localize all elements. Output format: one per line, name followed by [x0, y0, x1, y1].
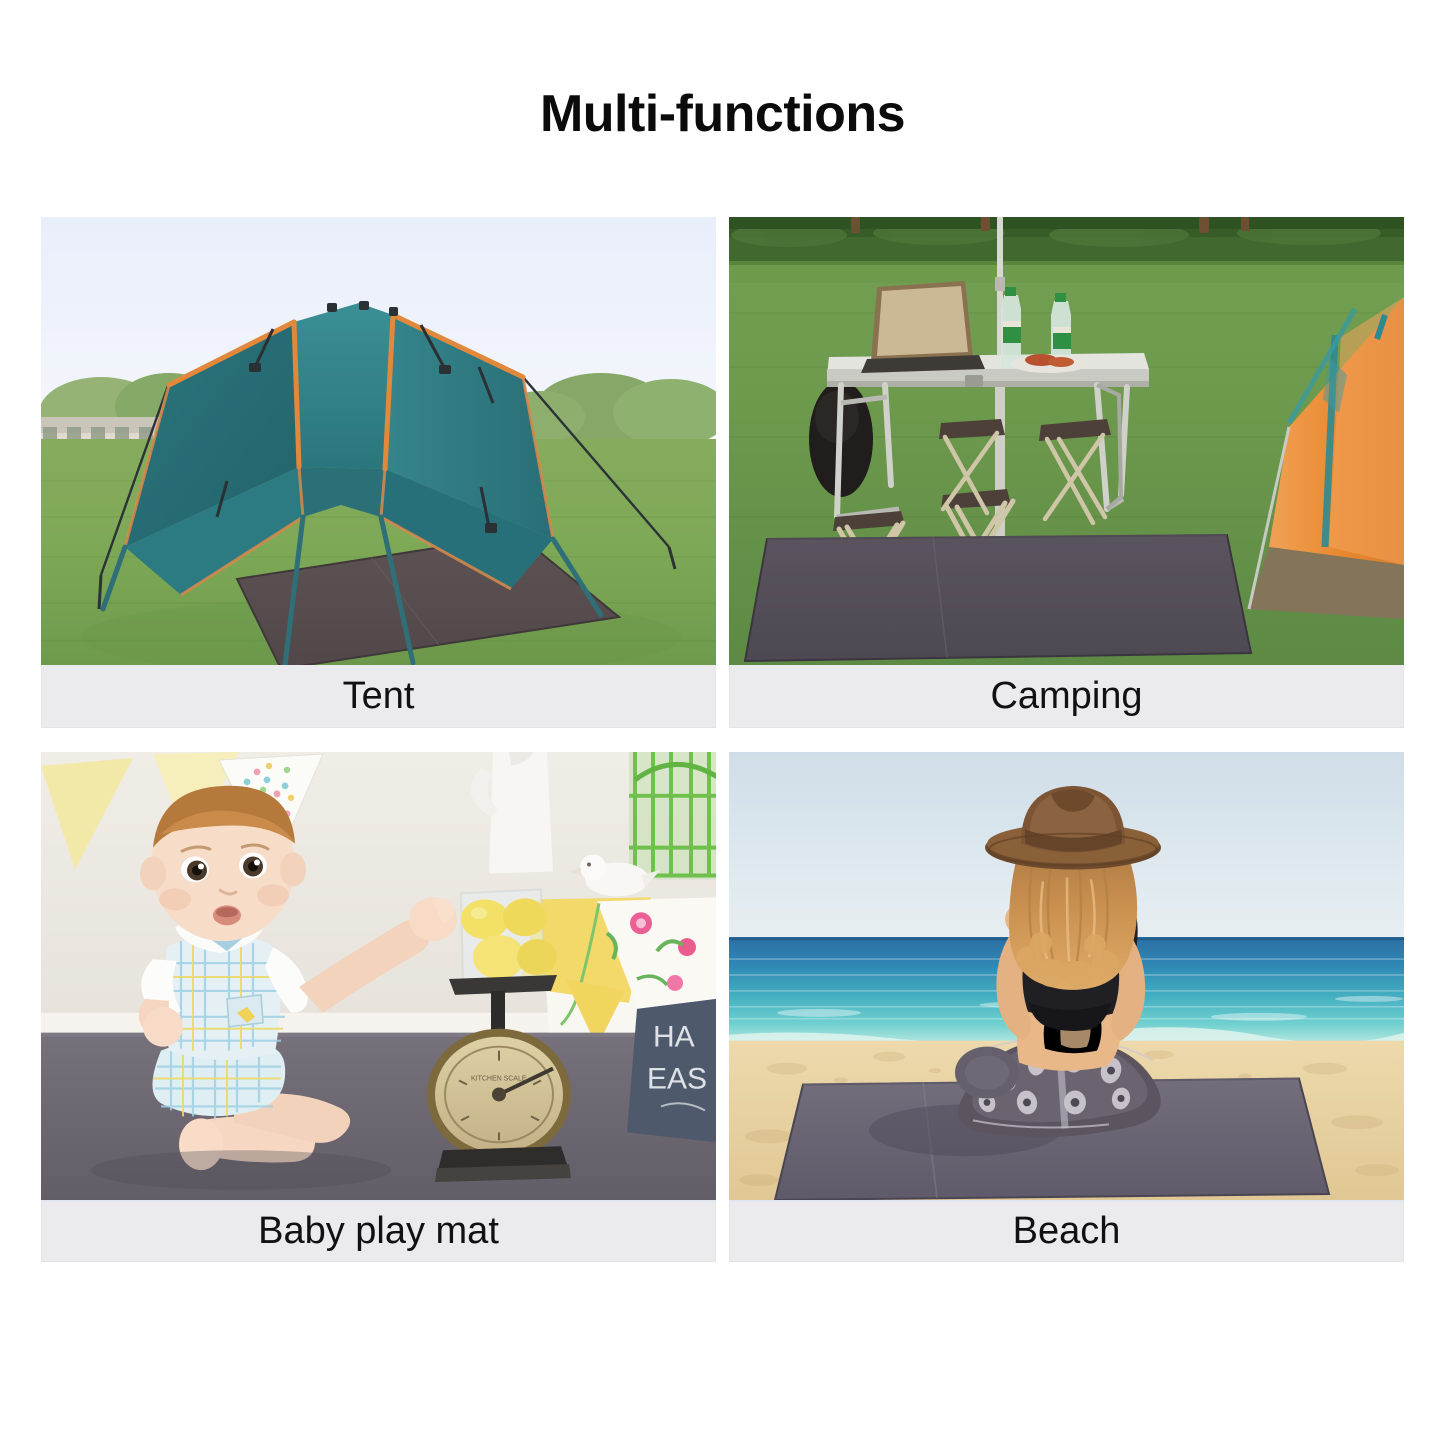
baby-play-mat-photo: HA EAS	[41, 752, 716, 1202]
svg-text:HA: HA	[653, 1021, 695, 1054]
chalkboard-sign: HA EAS	[627, 999, 716, 1142]
caption-camping: Camping	[729, 665, 1404, 728]
tent-photo	[41, 217, 716, 665]
camp-mat	[745, 535, 1251, 661]
camping-illustration	[729, 217, 1404, 665]
panel-grid: Tent	[41, 217, 1404, 1265]
caption-tent: Tent	[41, 665, 716, 728]
panel-baby-play-mat[interactable]: HA EAS	[41, 752, 716, 1265]
beach-illustration	[729, 752, 1404, 1200]
svg-text:KITCHEN SCALE: KITCHEN SCALE	[471, 1076, 527, 1083]
camping-photo	[729, 217, 1404, 665]
laptop	[861, 281, 985, 373]
svg-text:EAS: EAS	[647, 1063, 707, 1096]
beach-photo	[729, 752, 1404, 1202]
page-title: Multi-functions	[0, 82, 1445, 146]
panel-tent[interactable]: Tent	[41, 217, 716, 728]
panel-beach[interactable]: Beach	[729, 752, 1404, 1265]
tent-illustration	[41, 217, 716, 665]
panel-camping[interactable]: Camping	[729, 217, 1404, 728]
caption-baby-play-mat: Baby play mat	[41, 1202, 716, 1262]
infographic-page: Multi-functions	[0, 0, 1445, 1445]
water-bottle-left	[1001, 287, 1021, 369]
bird-cage	[629, 752, 716, 879]
baby-illustration: HA EAS	[41, 752, 716, 1200]
caption-beach: Beach	[729, 1202, 1404, 1262]
background-hedge	[729, 217, 1404, 265]
